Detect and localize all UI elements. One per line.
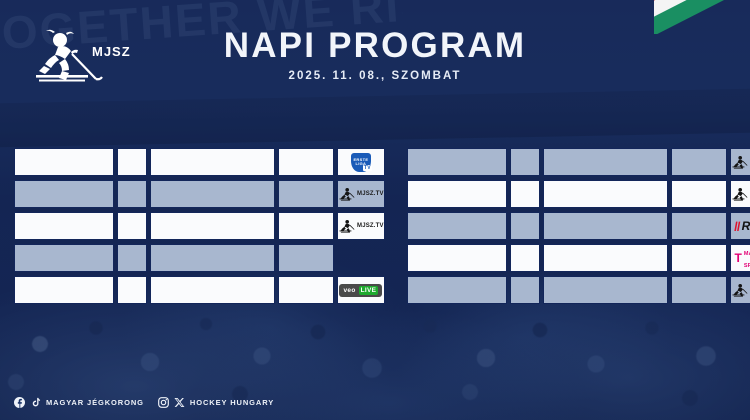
match-broadcaster[interactable]: MJSZ.TV	[337, 212, 385, 240]
match-vs	[117, 212, 147, 240]
match-vs	[117, 148, 147, 176]
page-title: NAPI PROGRAM	[0, 26, 750, 66]
table-row: MJSZ.TV	[407, 180, 750, 208]
match-broadcaster[interactable]: ‖ RED +	[730, 212, 750, 240]
match-broadcaster[interactable]: ERSTELIGA TV	[337, 148, 385, 176]
broadcaster-red-plus-icon: ‖ RED +	[731, 213, 750, 239]
table-row: MJSZ.TV	[14, 212, 385, 240]
match-opponent	[543, 148, 668, 176]
match-opponent	[543, 244, 668, 272]
match-broadcaster[interactable]: MJSZ.TV	[730, 276, 750, 304]
match-time	[278, 180, 334, 208]
match-vs	[117, 244, 147, 272]
match-broadcaster[interactable]: MJSZ.TV	[730, 148, 750, 176]
red-plus-mark: ‖	[733, 221, 742, 232]
match-time	[278, 212, 334, 240]
page-subtitle: 2025. 11. 08., SZOMBAT	[0, 70, 750, 82]
match-vs	[510, 180, 540, 208]
broadcaster-mjsz-tv-icon: MJSZ.TV	[731, 277, 750, 303]
table-row: ‖ RED +	[407, 212, 750, 240]
match-vs	[117, 180, 147, 208]
match-opponent	[543, 276, 668, 304]
match-opponent	[150, 244, 275, 272]
table-row: ERSTELIGA TV	[14, 148, 385, 176]
match-time	[278, 276, 334, 304]
table-row	[14, 244, 385, 272]
match-time	[671, 148, 727, 176]
match-team	[407, 244, 507, 272]
match-time	[671, 212, 727, 240]
footer-social: MAGYAR JÉGKORONG HOCKEY HUNGARY	[14, 397, 274, 408]
header-titles: NAPI PROGRAM 2025. 11. 08., SZOMBAT	[0, 26, 750, 82]
facebook-icon[interactable]	[14, 397, 25, 408]
match-vs	[510, 148, 540, 176]
match-time	[671, 276, 727, 304]
footer-group: MAGYAR JÉGKORONG	[14, 397, 144, 408]
schedule-tables: ERSTELIGA TV MJSZ.TV M	[0, 148, 750, 304]
match-team	[407, 148, 507, 176]
match-vs	[510, 276, 540, 304]
match-vs	[510, 212, 540, 240]
x-twitter-icon[interactable]	[174, 397, 185, 408]
schedule-table-right: MJSZ.TV MJSZ.TV ‖ RED +	[407, 148, 750, 304]
match-team	[14, 180, 114, 208]
broadcaster-label: MAGENTA	[744, 251, 750, 257]
broadcaster-label-2: SPORT	[744, 263, 750, 269]
match-opponent	[543, 180, 668, 208]
match-vs	[510, 244, 540, 272]
match-broadcaster[interactable]: MJSZ.TV	[730, 180, 750, 208]
match-broadcaster[interactable]: T MAGENTA SPORT	[730, 244, 750, 272]
match-time	[278, 148, 334, 176]
broadcaster-mjsz-tv-icon: MJSZ.TV	[338, 181, 384, 207]
match-vs	[117, 276, 147, 304]
match-team	[407, 180, 507, 208]
broadcaster-mjsz-tv-icon: MJSZ.TV	[338, 213, 384, 239]
match-broadcaster[interactable]: veo LIVE	[337, 276, 385, 304]
table-row: T MAGENTA SPORT	[407, 244, 750, 272]
broadcaster-label: MJSZ.TV	[357, 191, 384, 197]
match-opponent	[150, 212, 275, 240]
broadcaster-mjsz-tv-icon: MJSZ.TV	[731, 149, 750, 175]
match-time	[671, 244, 727, 272]
footer-handle-label: MAGYAR JÉGKORONG	[46, 398, 144, 407]
instagram-icon[interactable]	[158, 397, 169, 408]
broadcaster-badge: LIVE	[359, 286, 379, 295]
broadcaster-label: MJSZ.TV	[357, 223, 384, 229]
table-row: MJSZ.TV	[14, 180, 385, 208]
broadcaster-badge: TV	[363, 165, 372, 171]
table-row: MJSZ.TV	[407, 276, 750, 304]
match-team	[14, 276, 114, 304]
match-opponent	[543, 212, 668, 240]
match-broadcaster[interactable]: MJSZ.TV	[337, 180, 385, 208]
telekom-t-mark: T	[735, 253, 741, 263]
footer-handle-label: HOCKEY HUNGARY	[190, 398, 274, 407]
broadcaster-erste-liga-tv-icon: ERSTELIGA TV	[338, 149, 384, 175]
match-team	[407, 276, 507, 304]
match-opponent	[150, 276, 275, 304]
match-team	[407, 212, 507, 240]
footer-group: HOCKEY HUNGARY	[158, 397, 274, 408]
match-time	[671, 180, 727, 208]
table-row: veo LIVE	[14, 276, 385, 304]
schedule-table-left: ERSTELIGA TV MJSZ.TV M	[14, 148, 385, 304]
match-broadcaster	[337, 244, 385, 272]
match-opponent	[150, 180, 275, 208]
broadcaster-magenta-sport-icon: T MAGENTA SPORT	[731, 245, 750, 271]
match-team	[14, 244, 114, 272]
match-opponent	[150, 148, 275, 176]
broadcaster-veo-live-icon: veo LIVE	[338, 277, 384, 303]
table-row: MJSZ.TV	[407, 148, 750, 176]
broadcaster-label: RED	[742, 219, 750, 233]
broadcaster-mjsz-tv-icon: MJSZ.TV	[731, 181, 750, 207]
match-team	[14, 148, 114, 176]
match-team	[14, 212, 114, 240]
match-time	[278, 244, 334, 272]
broadcaster-label: veo	[343, 287, 355, 294]
tiktok-icon[interactable]	[30, 397, 41, 408]
